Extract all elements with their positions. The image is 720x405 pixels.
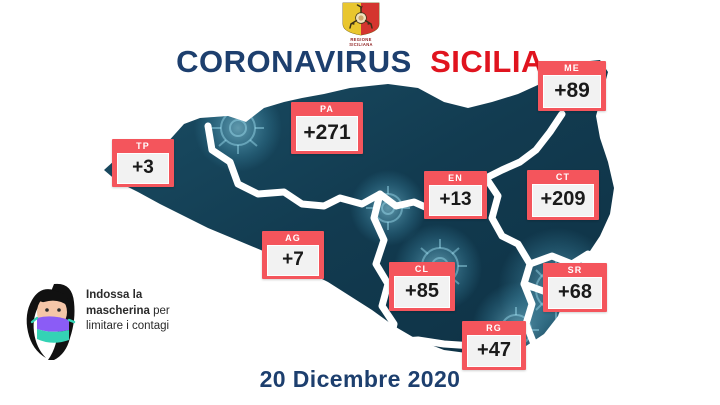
province-code: EN: [424, 171, 487, 185]
province-value: +68: [548, 277, 602, 309]
province-code: CT: [527, 170, 599, 184]
province-code: CL: [389, 262, 455, 276]
province-box-pa: PA+271: [291, 102, 363, 154]
mask-notice-line1: Indossa la: [86, 289, 142, 301]
province-box-me: ME+89: [538, 61, 606, 111]
province-box-en: EN+13: [424, 171, 487, 219]
province-code: ME: [538, 61, 606, 75]
regione-siciliana-logo: REGIONE SICILIANA: [338, 2, 384, 44]
mask-notice: Indossa la mascherina per limitare i con…: [14, 276, 219, 364]
province-code: RG: [462, 321, 526, 335]
province-box-ag: AG+7: [262, 231, 324, 279]
mask-notice-line2-rest: per: [150, 305, 170, 317]
mask-notice-text: Indossa la mascherina per limitare i con…: [86, 288, 220, 335]
province-box-sr: SR+68: [543, 263, 607, 312]
province-box-tp: TP+3: [112, 139, 174, 187]
province-value: +209: [532, 184, 594, 217]
province-value: +13: [429, 185, 482, 216]
mask-notice-line3: limitare i contagi: [86, 320, 169, 332]
province-code: PA: [291, 102, 363, 116]
province-box-cl: CL+85: [389, 262, 455, 311]
province-box-rg: RG+47: [462, 321, 526, 370]
province-code: TP: [112, 139, 174, 153]
province-value: +7: [267, 245, 319, 276]
footer-date: 20 Dicembre 2020: [0, 366, 720, 393]
province-value: +3: [117, 153, 169, 184]
province-value: +271: [296, 116, 358, 151]
province-value: +47: [467, 335, 521, 367]
trinacria-icon: [341, 2, 381, 36]
province-code: AG: [262, 231, 324, 245]
province-value: +85: [394, 276, 450, 308]
person-wearing-mask-icon: [14, 276, 86, 362]
province-box-ct: CT+209: [527, 170, 599, 220]
province-value: +89: [543, 75, 601, 108]
mask-notice-line2-bold: mascherina: [86, 305, 150, 317]
province-code: SR: [543, 263, 607, 277]
infographic-canvas: REGIONE SICILIANA CORONAVIRUS SICILIA: [0, 0, 720, 405]
